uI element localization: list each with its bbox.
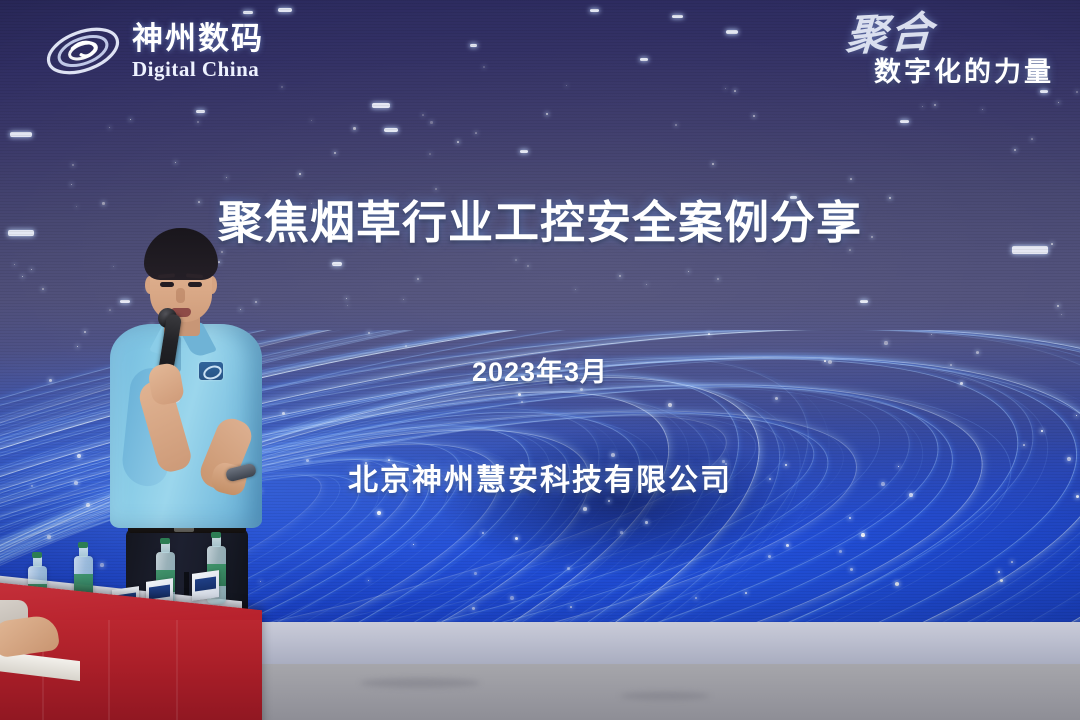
- speaker-hair: [144, 228, 218, 280]
- event-brush-title: 聚合: [845, 12, 936, 59]
- event-logo: 聚合 数字化的力量: [846, 14, 1054, 89]
- name-card: [192, 570, 219, 601]
- digital-china-logo: 神州数码 Digital China: [44, 18, 264, 84]
- cloth-fold: [176, 620, 178, 720]
- speaker-eye-left: [160, 282, 174, 287]
- speaker-nose: [176, 288, 185, 303]
- bottle-cap: [78, 542, 88, 548]
- swirl-galaxy-icon: [44, 18, 122, 84]
- floor-smudge: [620, 692, 710, 700]
- bottle-cap: [32, 552, 42, 558]
- brand-name-cn: 神州数码: [132, 23, 264, 54]
- speaker-eye-right: [188, 282, 202, 287]
- name-card-strip: [149, 585, 170, 600]
- cloth-fold: [108, 620, 110, 720]
- speaker-chest-logo: [199, 362, 223, 380]
- brand-text-block: 神州数码 Digital China: [132, 23, 264, 80]
- name-card-strip: [195, 577, 216, 592]
- screenshot-root: 神州数码 Digital China 聚合 数字化的力量 聚焦烟草行业工控安全案…: [0, 0, 1080, 720]
- brand-name-en: Digital China: [132, 59, 264, 80]
- bottle-cap: [211, 532, 221, 538]
- speaker-person: [96, 228, 276, 622]
- floor-smudge: [360, 678, 480, 688]
- bottle-cap: [160, 538, 170, 544]
